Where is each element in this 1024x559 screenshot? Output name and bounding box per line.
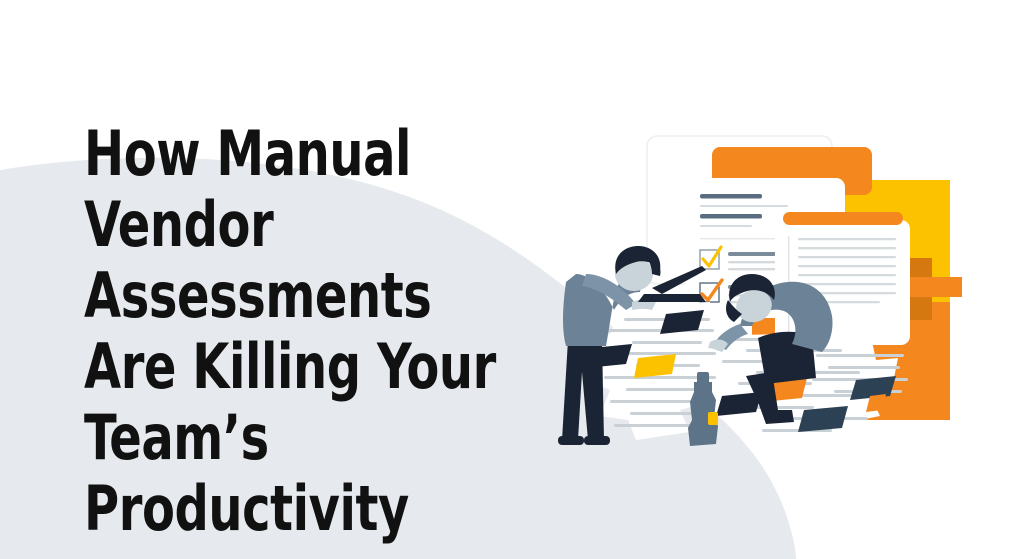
page-title: How Manual Vendor Assessments Are Killin… <box>84 118 531 544</box>
hero-banner: How Manual Vendor Assessments Are Killin… <box>0 0 1024 559</box>
hero-illustration <box>540 110 1010 480</box>
